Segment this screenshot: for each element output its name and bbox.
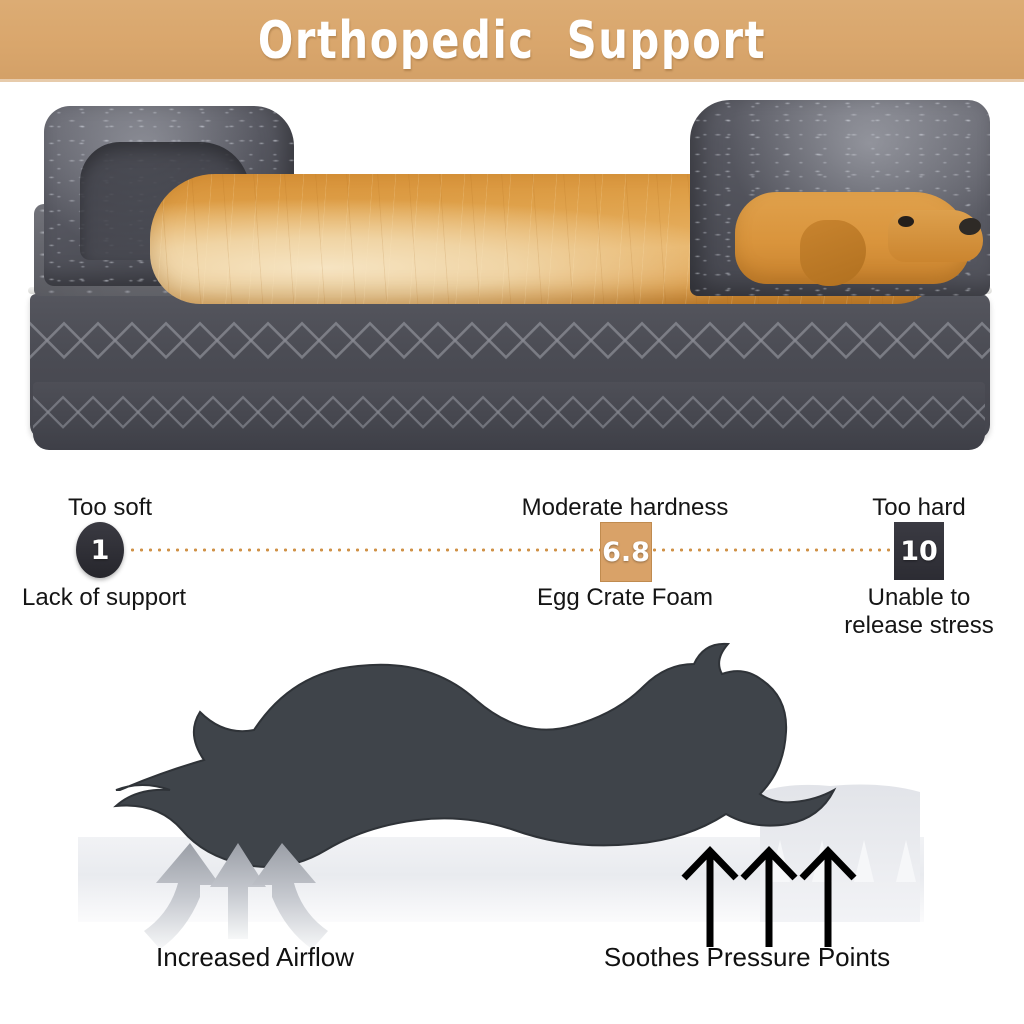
scale-middle-marker: 6.8	[600, 522, 652, 582]
product-photo	[0, 82, 1024, 472]
scale-right-bottom-line1: Unable to	[844, 584, 993, 612]
scale-right-marker: 10	[894, 522, 944, 580]
hardness-scale: Too soft 1 Lack of support Moderate hard…	[0, 472, 1024, 642]
scale-dotted-line	[128, 548, 896, 552]
dog-eye	[898, 216, 914, 227]
foam-illustration: Increased Airflow Soothes Pressure Point…	[0, 642, 1024, 1024]
infographic-root: Orthopedic Support Too soft 1 Lack of	[0, 0, 1024, 1024]
bed-base-lower	[33, 382, 985, 450]
caption-soothes-pressure-points: Soothes Pressure Points	[604, 942, 890, 973]
scale-left-bottom-label: Lack of support	[22, 584, 186, 612]
scale-left-marker: 1	[76, 522, 124, 578]
page-title: Orthopedic Support	[102, 0, 921, 82]
pressure-arrows	[684, 851, 854, 947]
scale-right-top-label: Too hard	[872, 494, 965, 522]
header-banner: Orthopedic Support	[0, 0, 1024, 82]
quilt-stitching-row-2	[33, 386, 985, 436]
scale-middle-top-label: Moderate hardness	[522, 494, 729, 522]
quilt-stitching-row-1	[30, 310, 990, 368]
scale-right-bottom-label: Unable to release stress	[844, 584, 993, 641]
scale-left-top-label: Too soft	[68, 494, 152, 522]
caption-increased-airflow: Increased Airflow	[156, 942, 354, 973]
scale-middle-bottom-label: Egg Crate Foam	[537, 584, 713, 612]
scale-right-bottom-line2: release stress	[844, 612, 993, 640]
